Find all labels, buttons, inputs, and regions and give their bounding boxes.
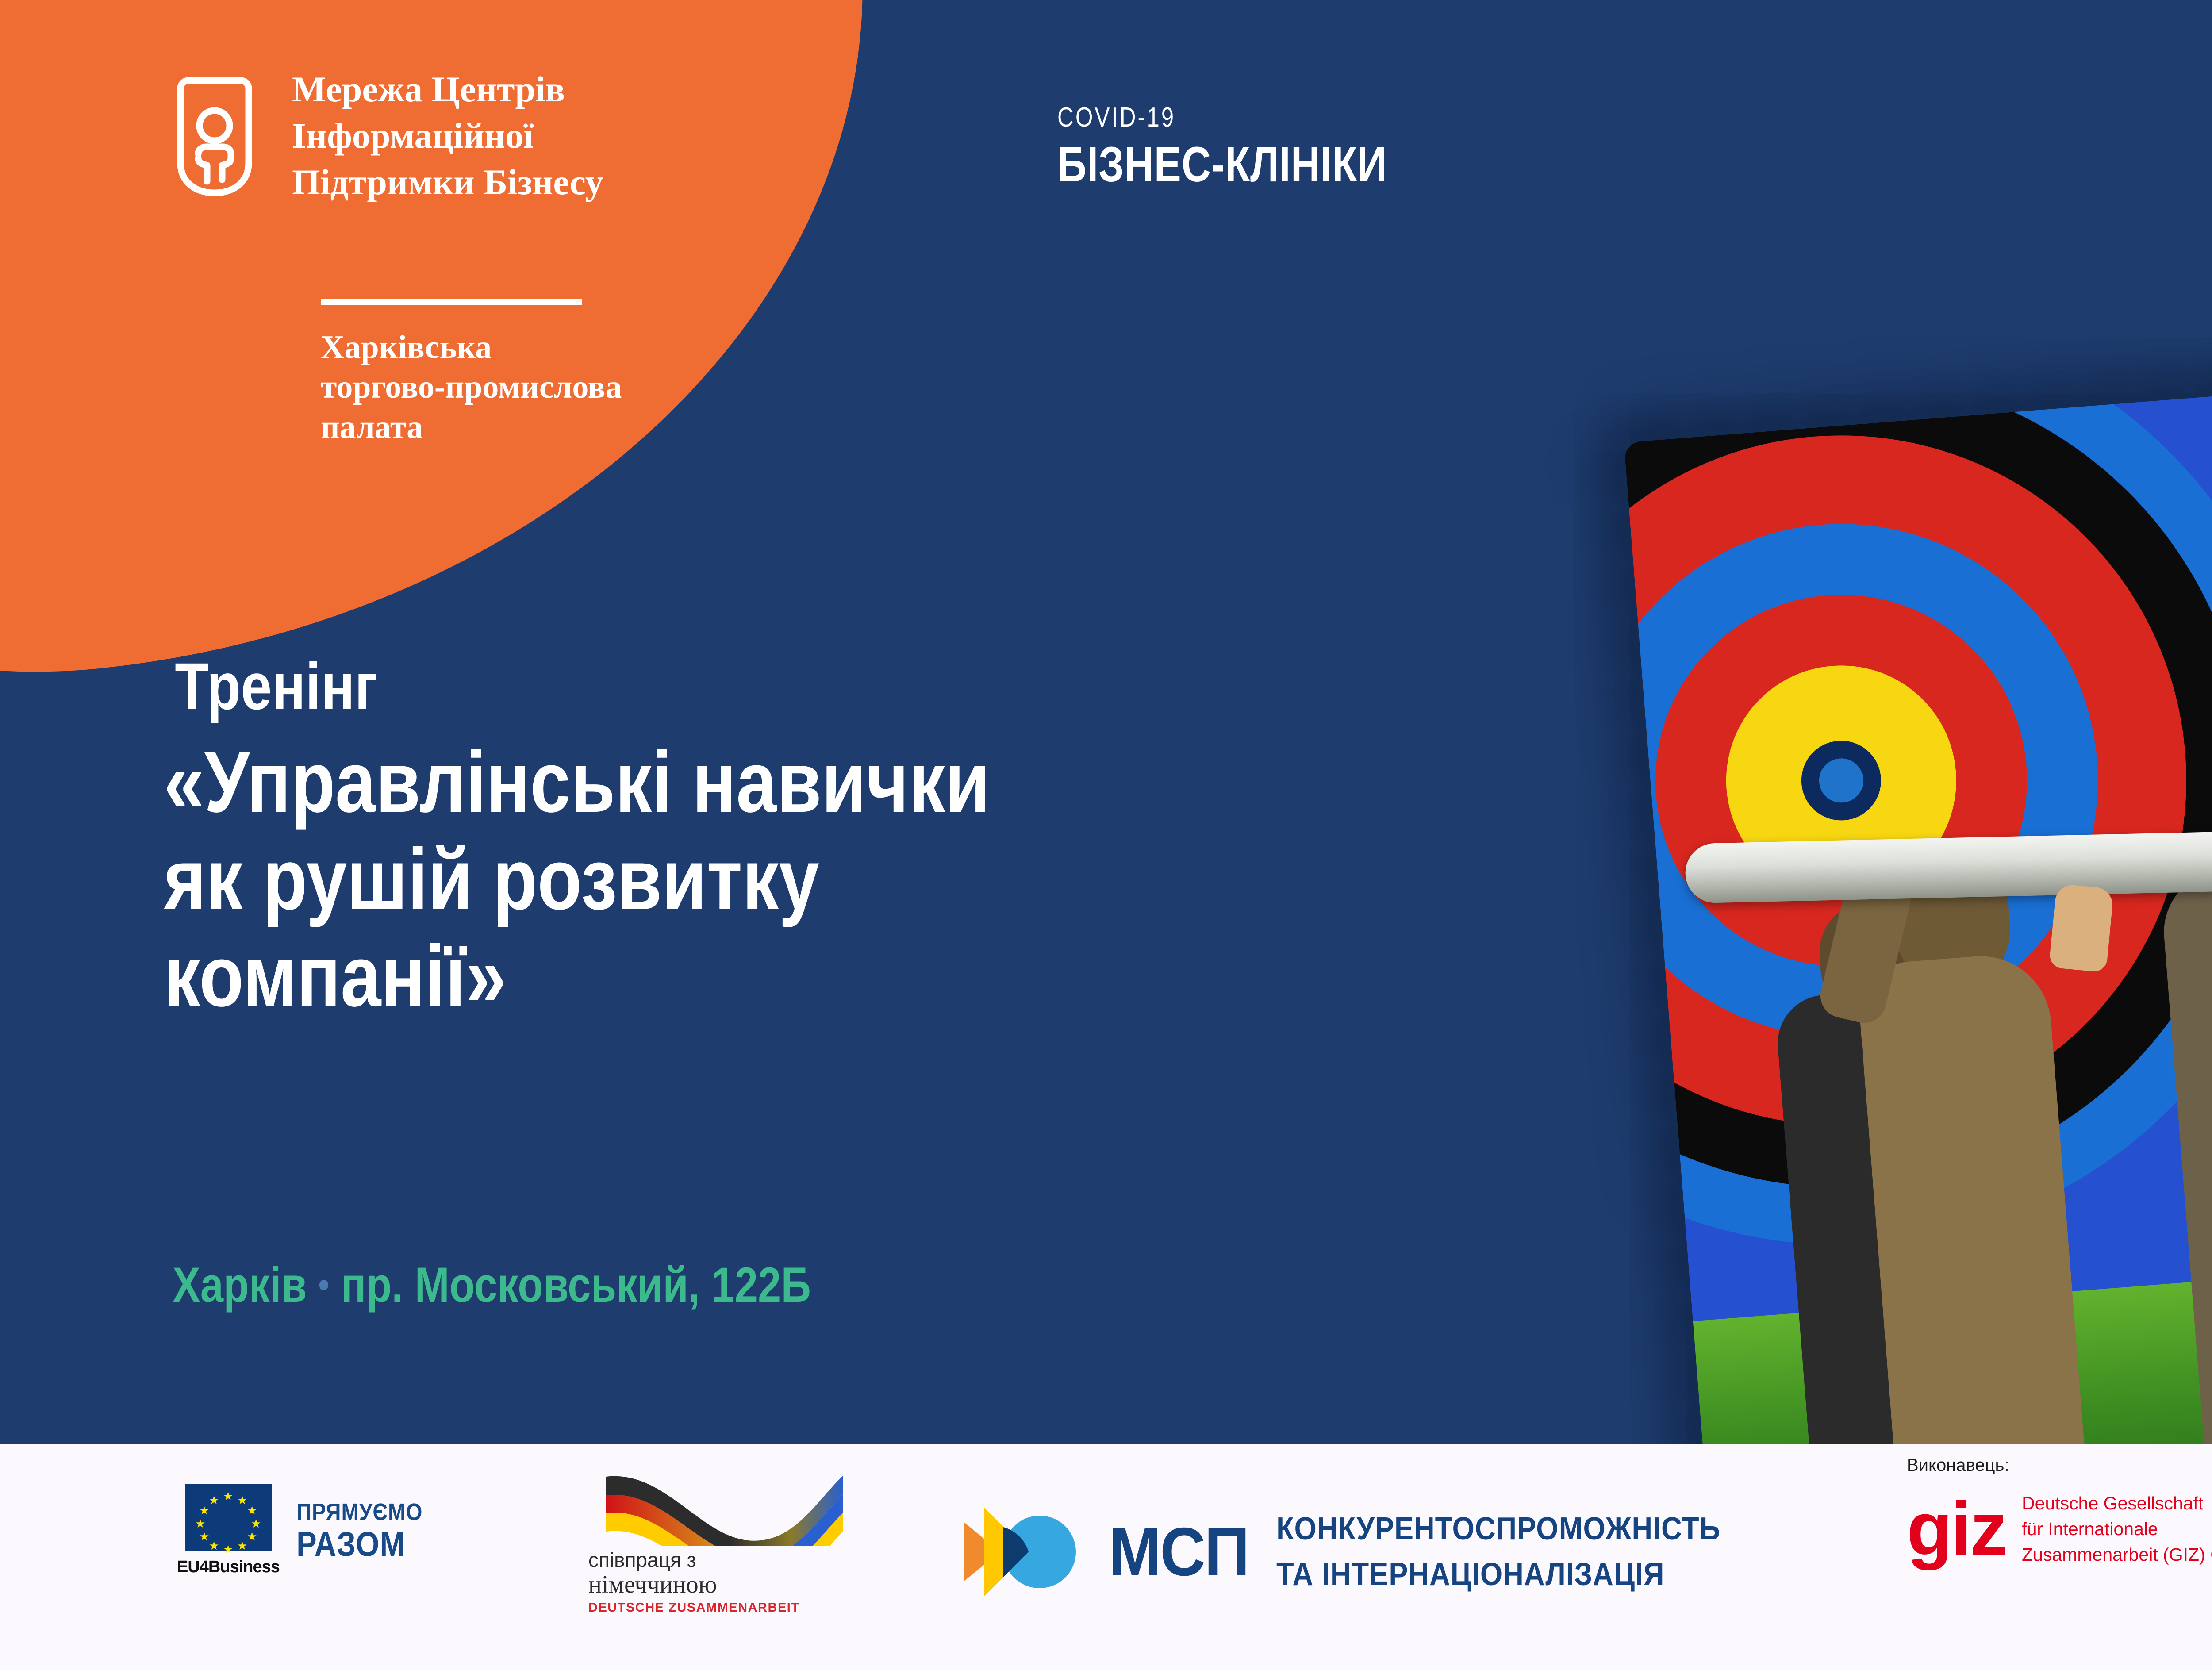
germany-ukraine-wave-icon (588, 1469, 854, 1546)
location-city: Харків (173, 1256, 307, 1313)
msp-subtitle-line1: КОНКУРЕНТОСПРОМОЖНІСТЬ (1276, 1506, 1720, 1551)
program-kicker: COVID-19 (1057, 102, 1387, 133)
giz-line1: Deutsche Gesellschaft (2022, 1490, 2212, 1516)
executor-label: Виконавець: (1907, 1455, 2212, 1475)
logo-eu4business: ★ ★ ★ ★ ★ ★ ★ ★ ★ ★ ★ ★ EU4Business ПРЯМ… (177, 1484, 440, 1577)
person-in-frame-icon (173, 76, 257, 196)
logo-msp: МСП КОНКУРЕНТОСПРОМОЖНІСТЬ ТА ІНТЕРНАЦІО… (960, 1500, 1770, 1604)
giz-line3: Zusammenarbeit (GIZ) GmbH (2022, 1542, 2212, 1567)
eu4business-label: EU4Business (177, 1558, 280, 1577)
brand-name: Мережа Центрів Інформаційної Підтримки Б… (292, 66, 603, 206)
brand-line: Мережа Центрів (292, 66, 603, 113)
chamber-line: палата (321, 407, 622, 447)
arrow-circle-icon (960, 1500, 1093, 1604)
eu-flag-icon: ★ ★ ★ ★ ★ ★ ★ ★ ★ ★ ★ ★ (185, 1484, 272, 1551)
chamber-name: Харківська торгово-промислова палата (321, 327, 622, 447)
title-eyebrow: Тренінг (175, 650, 1390, 722)
bullet-separator-icon (319, 1280, 328, 1290)
poster-canvas: Мережа Центрів Інформаційної Підтримки Б… (0, 0, 2212, 1670)
program-title-block: COVID-19 БІЗНЕС-КЛІНІКИ (1057, 102, 1459, 193)
chamber-line: Харківська (321, 327, 622, 367)
giz-line2: für Internationale (2022, 1516, 2212, 1542)
title-line: як рушій розвитку (164, 831, 1390, 928)
germany-line3: DEUTSCHE ZUSAMMENARBEIT (588, 1601, 863, 1615)
photo-content (1624, 339, 2212, 1501)
title-line: компанії» (164, 928, 1390, 1025)
program-title: БІЗНЕС-КЛІНІКИ (1057, 136, 1387, 193)
eu-slogan-line2: РАЗОМ (296, 1527, 422, 1561)
brand-line: Інформаційної (292, 113, 603, 159)
chamber-line: торгово-промислова (321, 367, 622, 407)
logo-german-cooperation: співпраця з німеччиною DEUTSCHE ZUSAMMEN… (588, 1469, 863, 1615)
title-main: «Управлінські навички як рушій розвитку … (164, 733, 1390, 1025)
germany-line1: співпраця з (588, 1548, 863, 1572)
brand-line: Підтримки Бізнесу (292, 159, 603, 206)
event-location: Харків пр. Московський, 122Б (173, 1256, 811, 1313)
page-title: Тренінг «Управлінські навички як рушій р… (164, 650, 1390, 1025)
eu-slogan-line1: ПРЯМУЄМО (296, 1500, 422, 1524)
germany-line2: німеччиною (588, 1572, 863, 1598)
giz-wordmark: giz (1907, 1500, 2006, 1559)
msp-abbreviation: МСП (1109, 1513, 1248, 1591)
logo-giz: Виконавець: giz Deutsche Gesellschaft fü… (1907, 1455, 2212, 1568)
location-address: пр. Московський, 122Б (341, 1256, 811, 1313)
event-photo (1624, 339, 2212, 1501)
logo-divider (321, 299, 582, 305)
msp-subtitle-line2: ТА ІНТЕРНАЦІОНАЛІЗАЦІЯ (1276, 1552, 1720, 1597)
title-line: «Управлінські навички (164, 733, 1390, 831)
